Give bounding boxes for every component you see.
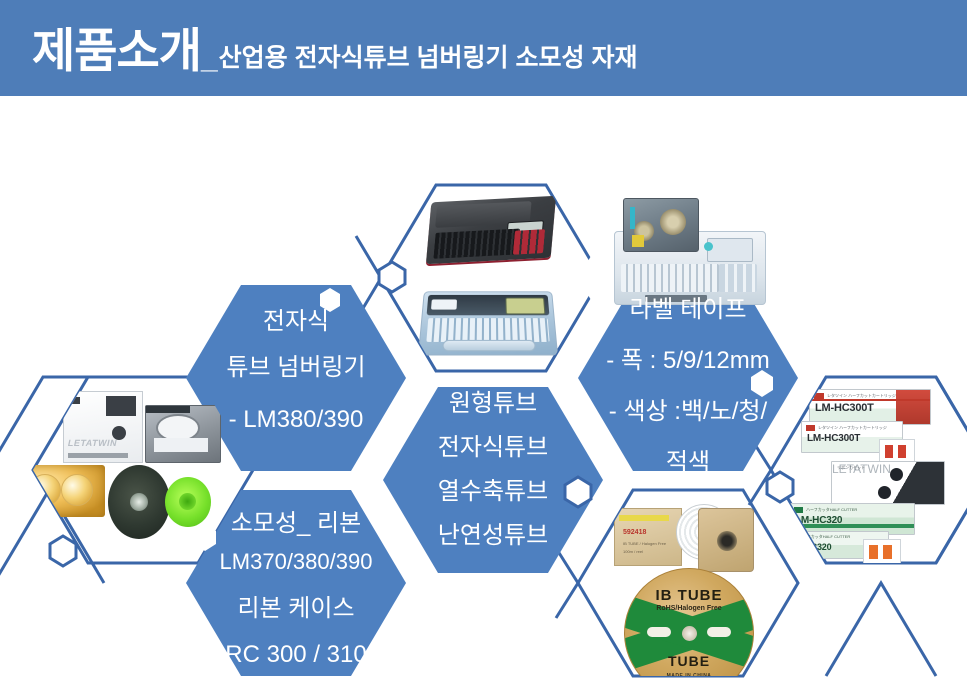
cartridge-yellow-block: [632, 235, 644, 247]
cartridge-gear-large: [660, 209, 686, 235]
small-hex-decor-left-photo: [50, 536, 76, 566]
cutter-pack-orange: [863, 539, 901, 565]
cassette-foot: [146, 406, 190, 413]
ribbon-box-letatwin: LETATWIN: [63, 391, 143, 463]
gold-cup-right: [61, 474, 93, 506]
hex-edge-decor-right-bottom: [826, 583, 936, 676]
machine-lcd: [505, 298, 545, 315]
reel-hub: [682, 626, 697, 641]
letatwin-brand-text: LETATWIN: [67, 438, 118, 448]
box-red-band: [896, 390, 930, 424]
green-ribbon-spool: [165, 477, 211, 527]
kraft-reel-side: [698, 508, 754, 572]
carton-small-text: IB TUBE / Halogen Free: [623, 541, 666, 546]
machine-with-open-cover: [614, 231, 766, 305]
spool-hub: [130, 493, 148, 511]
ribbon-cassette: [145, 405, 221, 463]
ib-tube-reel: IB TUBE RoHS/Halogen Free TUBE MADE IN C…: [624, 568, 754, 680]
reel-center-hole: [717, 531, 737, 551]
box-desc-text: レタツイン ハーフカットカートリッジ: [818, 425, 887, 431]
cartridge-blue-bar: [630, 207, 635, 229]
machine-front-label: [645, 295, 707, 302]
box-desc-text: リボンカセット: [837, 465, 865, 471]
dark-ribbon-spool: [108, 465, 170, 539]
reel-slot-right: [707, 627, 731, 637]
cassette-label: [154, 438, 208, 452]
machine-output-slot: [442, 340, 536, 351]
machine-tag-label: [431, 299, 457, 309]
box-footer-bar: [68, 453, 128, 458]
box-label-dark: [106, 396, 136, 416]
ribbon-ring-1: [890, 468, 903, 481]
machine-power-button: [704, 242, 713, 251]
machine-lm380-dark: [426, 196, 556, 264]
machine-numpad: [719, 264, 757, 292]
reel-subtitle-text: RoHS/Halogen Free: [625, 605, 753, 612]
photo-open-machine: [578, 155, 798, 375]
box-model-text: LM-HC300T: [807, 433, 860, 444]
brand-chip: [806, 425, 815, 431]
machine-lcd: [707, 238, 753, 262]
machine-lm390-blue: [418, 291, 558, 355]
carton-red-code: 592418: [623, 529, 646, 536]
carton-yellow-stripe: [619, 515, 669, 521]
tube-carton-box: 592418 IB TUBE / Halogen Free 100m / ree…: [614, 508, 682, 566]
machine-keyboard: [433, 228, 520, 258]
spool-hub: [179, 493, 196, 510]
machine-keyboard: [426, 318, 549, 342]
box-lm-hc300t-large: レタツイン ハーフカットカートリッジ LM-HC300T: [809, 389, 931, 425]
carton-small-text-2: 100m / reel: [623, 549, 643, 554]
hex-fill-tube: [383, 387, 603, 573]
reel-title-text: IB TUBE: [625, 587, 753, 604]
machine-numpad: [513, 229, 545, 255]
box-green-band: [790, 524, 914, 528]
hex-edge-decor-tube-left: [556, 548, 578, 618]
machine-keyboard: [621, 264, 719, 292]
box-red-strip: [810, 399, 930, 401]
box-letatwin-ribbon: LETATWIN リボンカセット: [831, 461, 945, 505]
reel-word-text: TUBE: [625, 653, 753, 669]
ribbon-ring-2: [878, 486, 891, 499]
box-model-text: LM-HC300T: [815, 402, 874, 414]
small-hex-decor-tube-photo: [565, 477, 591, 507]
internal-cartridge-assembly: [623, 198, 699, 252]
cartridge-pack-red: [879, 439, 915, 463]
reel-slot-left: [647, 627, 671, 637]
box-desc-text: ハーフカッタHALF CUTTER: [806, 507, 857, 513]
slide-canvas: 제품소개 _ 산업용 전자식튜브 넘버링기 소모성 자재: [0, 0, 967, 695]
